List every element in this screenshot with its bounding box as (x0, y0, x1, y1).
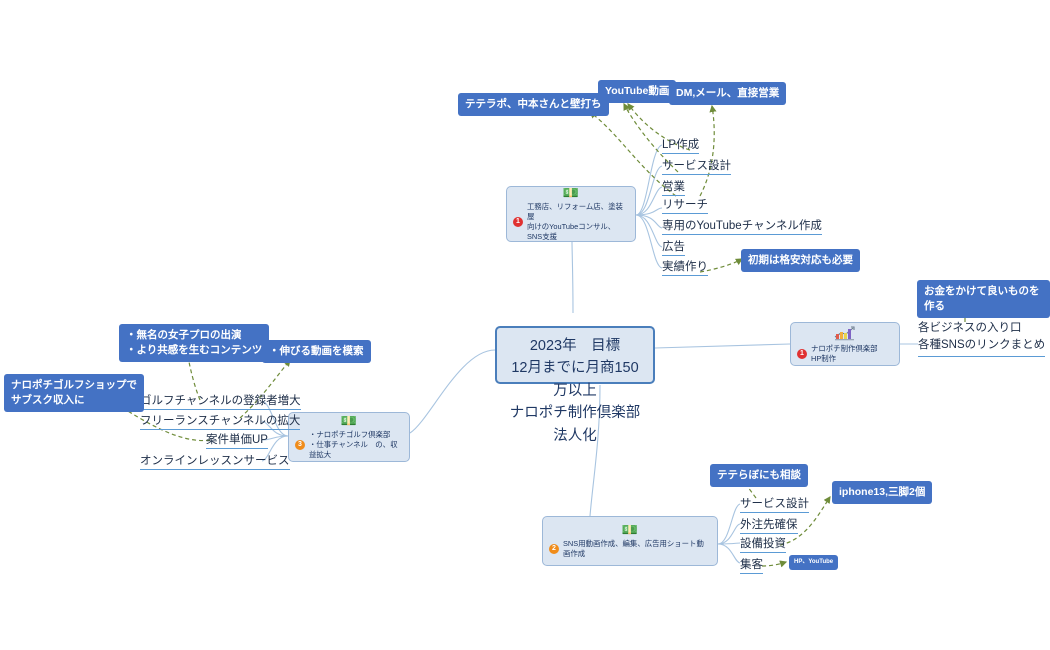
callout-cheap-initial-response[interactable]: 初期は格安対応も必要 (741, 249, 860, 272)
mindmap-canvas: 2023年 目標 12月までに月商150万以上 ナロポチ制作倶楽部法人化 💵 1… (0, 0, 1050, 650)
bar-chart-icon (834, 325, 856, 341)
topic-node-consulting[interactable]: 💵 1 工務店、リフォーム店、塗装屋 向けのYouTubeコンサル、SNS支援 (506, 186, 636, 242)
callout-female-pro-content[interactable]: ・無名の女子プロの出演 ・より共感を生むコンテンツ (119, 324, 269, 362)
money-icon: 💵 (622, 523, 638, 536)
priority-badge: 1 (513, 217, 523, 227)
priority-badge: 3 (295, 440, 305, 450)
money-icon: 💵 (563, 186, 579, 199)
subtopic-equipment-investment[interactable]: 設備投資 (740, 535, 786, 553)
priority-badge: 2 (549, 544, 559, 554)
priority-badge: 1 (797, 349, 807, 359)
subtopic-customer-acquisition[interactable]: 集客 (740, 556, 763, 574)
subtopic-advertising[interactable]: 広告 (662, 238, 685, 256)
subtopic-project-unit-price-up[interactable]: 案件単価UP (206, 431, 268, 449)
callout-dm-mail-direct-sales[interactable]: DM,メール、直接営業 (669, 82, 786, 105)
callout-explore-growing-videos[interactable]: ・伸びる動画を模索 (262, 340, 371, 363)
subtopic-lp-creation[interactable]: LP作成 (662, 136, 699, 154)
callout-iphone13-tripod[interactable]: iphone13,三脚2個 (832, 481, 932, 504)
topic-row: 1 工務店、リフォーム店、塗装屋 向けのYouTubeコンサル、SNS支援 (507, 202, 635, 242)
money-icon: 💵 (341, 414, 357, 427)
callout-spend-money-quality[interactable]: お金をかけて良いものを作る (917, 280, 1050, 318)
topic-row: 3 ・ナロポチゴルフ倶楽部 ・仕事チャンネル の、収益拡大 (289, 430, 409, 460)
subtopic-service-design[interactable]: サービス設計 (662, 157, 731, 175)
topic-node-golf[interactable]: 💵 3 ・ナロポチゴルフ倶楽部 ・仕事チャンネル の、収益拡大 (288, 412, 410, 462)
topic-label: 工務店、リフォーム店、塗装屋 向けのYouTubeコンサル、SNS支援 (527, 202, 629, 242)
subtopic-golf-subscriber-growth[interactable]: ゴルフチャンネルの登録者増大 (140, 392, 301, 410)
subtopic-freelance-channel-expansion[interactable]: フリーランスチャンネルの拡大 (140, 412, 300, 430)
callout-consult-tetelabo[interactable]: テテらぼにも相談 (710, 464, 808, 487)
callout-tetelab-wall[interactable]: テテラポ、中本さんと壁打ち (458, 93, 609, 116)
subtopic-dedicated-youtube-channel[interactable]: 専用のYouTubeチャンネル作成 (662, 217, 822, 235)
topic-node-hp-production[interactable]: 1 ナロポチ制作倶楽部 HP制作 (790, 322, 900, 366)
topic-node-video-production[interactable]: 💵 2 SNS用動画作成、編集、広告用ショート動画作成 (542, 516, 718, 566)
callout-hp-youtube[interactable]: HP、YouTube (789, 555, 838, 570)
subtopic-outsourcing-partners[interactable]: 外注先確保 (740, 516, 798, 534)
central-node[interactable]: 2023年 目標 12月までに月商150万以上 ナロポチ制作倶楽部法人化 (495, 326, 655, 384)
callout-golf-shop-subscription[interactable]: ナロポチゴルフショップで サブスク収入に (4, 374, 144, 412)
topic-row: 2 SNS用動画作成、編集、広告用ショート動画作成 (543, 539, 717, 559)
topic-row: 1 ナロポチ制作倶楽部 HP制作 (791, 344, 899, 364)
topic-label: ナロポチ制作倶楽部 HP制作 (811, 344, 893, 364)
subtopic-video-service-design[interactable]: サービス設計 (740, 495, 809, 513)
subtopic-online-lesson-service[interactable]: オンラインレッスンサービス (140, 452, 290, 470)
callout-youtube-video[interactable]: YouTube動画 (598, 80, 676, 103)
topic-label: SNS用動画作成、編集、広告用ショート動画作成 (563, 539, 711, 559)
subtopic-sales[interactable]: 営業 (662, 178, 685, 196)
subtopic-track-record[interactable]: 実績作り (662, 258, 708, 276)
subtopic-research[interactable]: リサーチ (662, 196, 708, 214)
topic-label: ・ナロポチゴルフ倶楽部 ・仕事チャンネル の、収益拡大 (309, 430, 403, 460)
subtopic-business-entrance-sns-links[interactable]: 各ビジネスの入り口 各種SNSのリンクまとめ (918, 320, 1045, 357)
